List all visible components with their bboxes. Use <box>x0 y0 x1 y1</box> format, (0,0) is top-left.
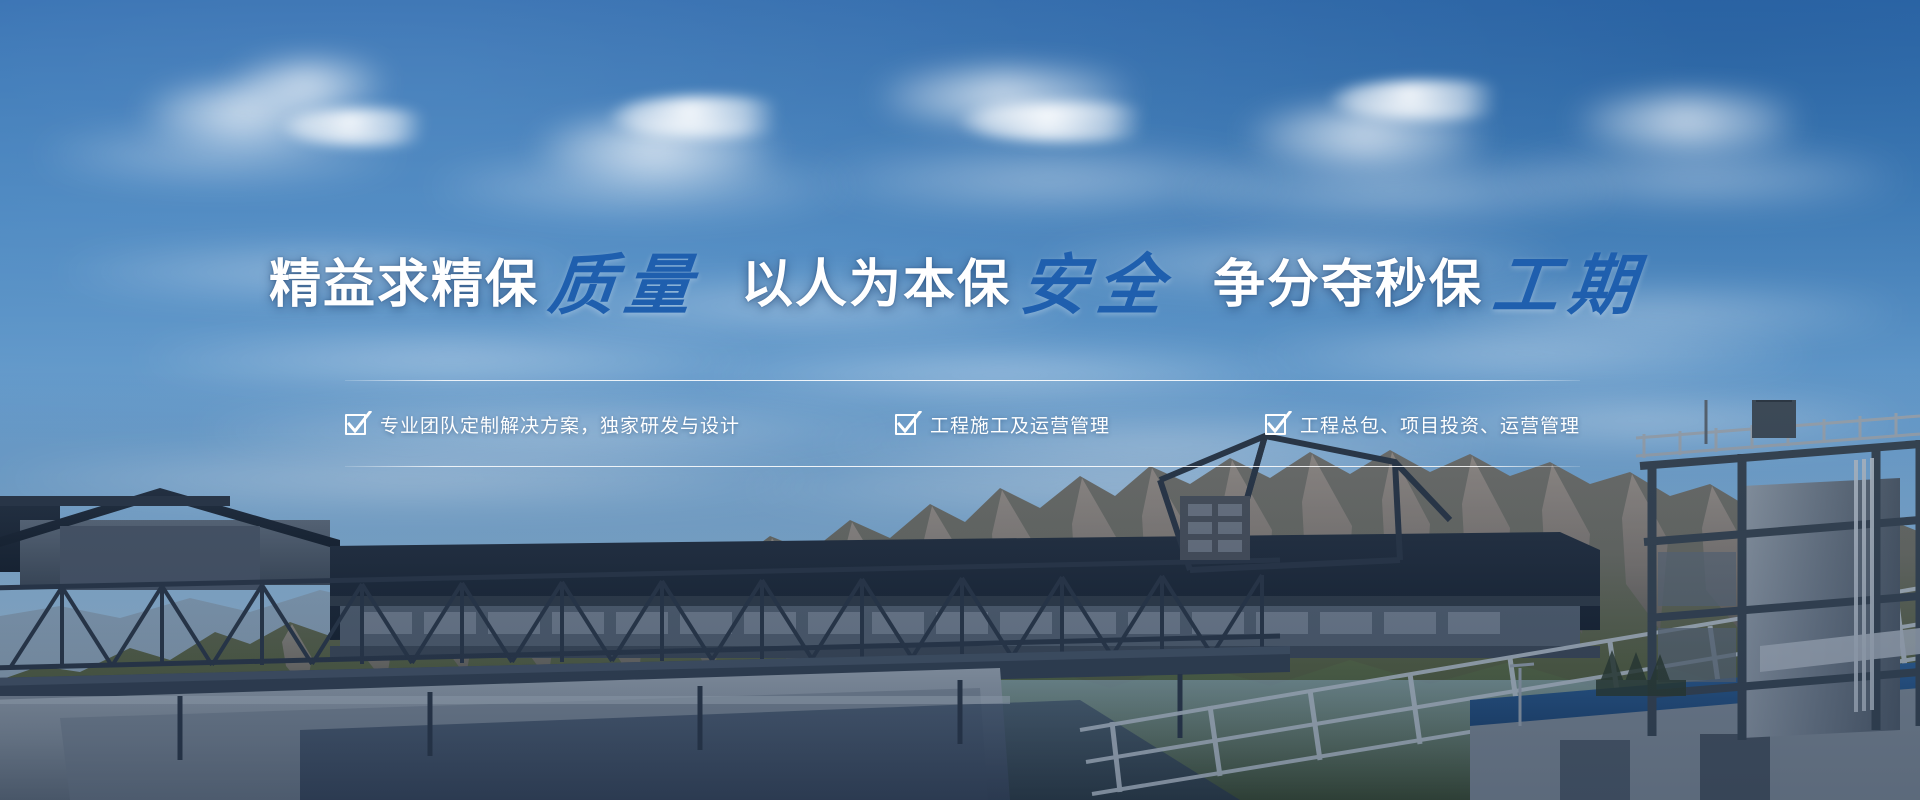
feature-label-1: 专业团队定制解决方案，独家研发与设计 <box>380 411 740 438</box>
feature-item-1[interactable]: 专业团队定制解决方案，独家研发与设计 <box>345 411 740 438</box>
headline-accent-safety: 安全 <box>1008 252 1183 318</box>
headline-accent-quality: 质量 <box>536 252 711 318</box>
headline-accent-schedule: 工期 <box>1480 252 1655 318</box>
banner-content: 精益求精保质量以人为本保安全争分夺秒保工期 专业团队定制解决方案，独家研发与设计 <box>0 0 1920 800</box>
headline-plain-2: 以人为本保 <box>741 259 1011 311</box>
divider-bottom <box>345 466 1580 467</box>
banner-headline: 精益求精保质量以人为本保安全争分夺秒保工期 <box>0 252 1920 318</box>
divider-top <box>345 380 1580 381</box>
feature-item-2[interactable]: 工程施工及运营管理 <box>895 411 1110 438</box>
checkbox-checked-icon <box>1265 414 1286 435</box>
feature-label-2: 工程施工及运营管理 <box>930 411 1110 438</box>
feature-label-3: 工程总包、项目投资、运营管理 <box>1300 411 1580 438</box>
hero-banner: 精益求精保质量以人为本保安全争分夺秒保工期 专业团队定制解决方案，独家研发与设计 <box>0 0 1920 800</box>
checkbox-checked-icon <box>895 414 916 435</box>
headline-plain-3: 争分夺秒保 <box>1213 259 1483 311</box>
feature-list: 专业团队定制解决方案，独家研发与设计 工程施工及运营管理 工程总包、项目投资、运… <box>345 398 1580 450</box>
headline-plain-1: 精益求精保 <box>269 259 539 311</box>
feature-item-3[interactable]: 工程总包、项目投资、运营管理 <box>1265 411 1580 438</box>
checkbox-checked-icon <box>345 414 366 435</box>
